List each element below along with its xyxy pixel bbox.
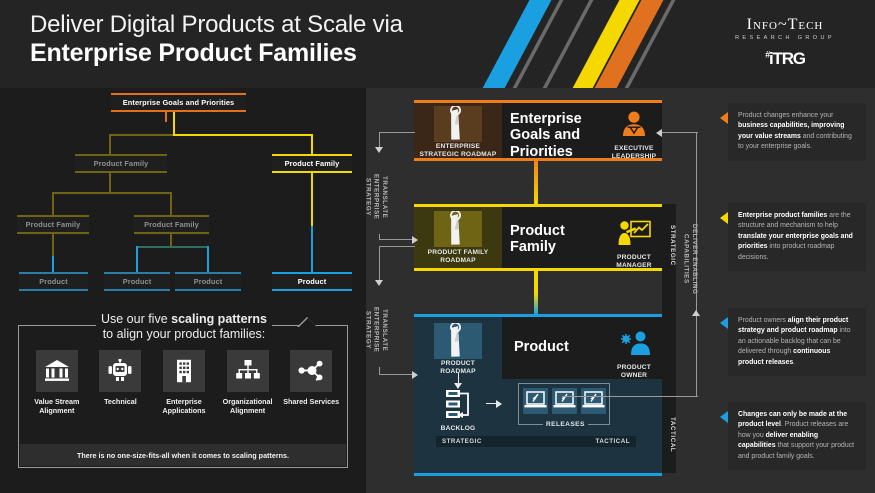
- tree-node-root-label: Enterprise Goals and Priorities: [123, 98, 235, 107]
- translate2-bottom-line: [379, 374, 415, 375]
- executive-leadership-icon: [619, 111, 649, 138]
- translate2-arrowhead: [375, 280, 383, 286]
- tree-node-product-3[interactable]: Product: [175, 274, 241, 289]
- deliver-top-line: [662, 132, 698, 133]
- row1-title: Enterprise Goals and Priorities: [510, 111, 582, 160]
- page-title-line2: Enterprise Product Families: [30, 39, 550, 67]
- product-family-roadmap-icon: [434, 211, 482, 247]
- callout-1-tip: [720, 112, 728, 124]
- translate2-top-line: [379, 246, 415, 247]
- callout-2: Enterprise product families are the stru…: [728, 203, 866, 271]
- enterprise-strategic-roadmap-icon: [434, 106, 482, 142]
- backlog-block[interactable]: BACKLOG: [436, 389, 480, 439]
- logo-itrg-text: iTRG: [769, 49, 805, 68]
- tree-node-product-2-label: Product: [123, 277, 152, 286]
- roadmap-to-backlog-arrowhead: [454, 383, 462, 389]
- tree-node-family-l1-right-label: Product Family: [285, 159, 340, 168]
- pattern-organizational-alignment[interactable]: Organizational Alignment: [218, 350, 278, 415]
- rocket-laptop-icon: [581, 388, 606, 414]
- product-family-tree: Enterprise Goals and Priorities Product …: [0, 88, 366, 303]
- backlog-label: BACKLOG: [436, 425, 480, 433]
- product-roadmap-icon: [434, 323, 482, 359]
- deliver-label: DELIVER ENABLING CAPABILITIES: [678, 216, 698, 302]
- callout-1-text: Product changes enhance your business ca…: [738, 111, 857, 153]
- row2-title: Product Family: [510, 223, 565, 256]
- callout-2-tip: [720, 212, 728, 224]
- tree-line-root-left: [109, 134, 175, 136]
- executive-leadership-persona: EXECUTIVE LEADERSHIP: [606, 111, 662, 161]
- spectrum-right-label: TACTICAL: [596, 438, 630, 445]
- translate2-label: TRANSLATE ENTERPRISE STRATEGY: [372, 293, 388, 367]
- callout-4: Changes can only be made at the product …: [728, 402, 866, 470]
- scaling-patterns-title-line1: Use our five scaling patterns: [96, 312, 272, 326]
- tree-node-family-l1-left-label: Product Family: [94, 159, 149, 168]
- product-owner-icon: [617, 330, 651, 357]
- scaling-patterns-card: Use our five scaling patterns to align y…: [18, 325, 348, 468]
- tree-node-family-l1-right[interactable]: Product Family: [272, 156, 352, 171]
- rail-strategic-label: STRATEGIC: [662, 210, 676, 280]
- translate1-label: TRANSLATE ENTERPRISE STRATEGY: [372, 160, 388, 234]
- tree-node-family-l2-left[interactable]: Product Family: [17, 217, 89, 232]
- tree-node-product-highlight[interactable]: Product: [272, 274, 352, 289]
- tree-line-pf-right-down-b: [311, 226, 313, 274]
- strategic-tactical-spectrum: STRATEGIC TACTICAL: [436, 436, 636, 447]
- spectrum-left-label: STRATEGIC: [442, 438, 482, 445]
- tree-line-l1l-down: [109, 171, 111, 193]
- tree-node-product-highlight-label: Product: [298, 277, 327, 286]
- translate1-to-row2-arrowhead: [412, 236, 418, 244]
- translate1-top-line: [379, 132, 415, 133]
- callout-1: Product changes enhance your business ca…: [728, 103, 866, 161]
- row3-title: Product: [514, 339, 569, 355]
- row2-roadmap-label: PRODUCT FAMILY ROADMAP: [414, 249, 502, 265]
- scaling-patterns-list: Value Stream Alignment Technical: [19, 350, 349, 415]
- org-chart-icon: [227, 350, 269, 392]
- tree-line-l2m-down: [170, 192, 172, 217]
- tree-line-p1-lower: [52, 256, 54, 274]
- row1-persona-label: EXECUTIVE LEADERSHIP: [606, 145, 662, 161]
- row-product[interactable]: PRODUCT ROADMAP Product PRODUCT OWNER: [414, 317, 662, 473]
- tree-line-l2-span: [52, 192, 172, 194]
- translate2-to-row3-arrowhead: [412, 371, 418, 379]
- logo-tagline: RESEARCH GROUP: [715, 35, 855, 41]
- pattern-value-stream-alignment[interactable]: Value Stream Alignment: [27, 350, 87, 415]
- callout-2-text: Enterprise product families are the stru…: [738, 211, 857, 263]
- scaling-patterns-footer: There is no one-size-fits-all when it co…: [20, 444, 346, 466]
- pattern-label: Shared Services: [281, 397, 341, 406]
- scaling-patterns-title: Use our five scaling patterns to align y…: [19, 310, 349, 341]
- tree-node-family-l2-mid[interactable]: Product Family: [134, 217, 209, 232]
- tree-node-family-l2-mid-label: Product Family: [144, 220, 199, 229]
- network-nodes-icon: [290, 350, 332, 392]
- deliver-to-row1-arrowhead: [656, 129, 662, 137]
- page-title: Deliver Digital Products at Scale via En…: [30, 12, 550, 67]
- backlog-icon: [438, 389, 478, 423]
- tree-line-l1-left-down: [109, 134, 111, 156]
- pattern-shared-services[interactable]: Shared Services: [281, 350, 341, 415]
- page-title-line1: Deliver Digital Products at Scale via: [30, 12, 550, 39]
- row3-bottom-rule: [414, 473, 662, 476]
- row2-persona-label: PRODUCT MANAGER: [606, 254, 662, 270]
- product-manager-icon: [617, 220, 651, 247]
- tree-line-root-down: [173, 110, 175, 136]
- backlog-to-releases-line: [486, 403, 498, 404]
- infographic-root: Deliver Digital Products at Scale via En…: [0, 0, 875, 493]
- tree-node-product-2[interactable]: Product: [104, 274, 170, 289]
- translate1-bottom-line: [379, 239, 415, 240]
- tree-node-family-l1-left[interactable]: Product Family: [75, 156, 167, 171]
- translate1-arrowhead: [375, 147, 383, 153]
- logo-itrg: #iTRG: [715, 49, 855, 69]
- rocket-laptop-icon: [552, 388, 577, 414]
- callout-3-text: Product owners align their product strat…: [738, 316, 857, 368]
- scaling-title-pre: Use our five: [101, 312, 171, 326]
- scaling-title-bold: scaling patterns: [171, 312, 267, 326]
- page-header: Deliver Digital Products at Scale via En…: [0, 0, 875, 88]
- translate2-down-line: [379, 246, 380, 282]
- releases-label: RELEASES: [543, 421, 588, 428]
- logo-wordmark: Info~Tech: [715, 16, 855, 34]
- strategic-tactical-rail: STRATEGIC TACTICAL: [662, 204, 676, 473]
- release-3[interactable]: [581, 388, 606, 414]
- brand-logo: Info~Tech RESEARCH GROUP #iTRG: [715, 16, 855, 69]
- spine-row2-to-row3: [534, 268, 538, 314]
- deliver-bottom-line: [562, 396, 698, 397]
- row3-persona-label: PRODUCT OWNER: [606, 364, 662, 380]
- pattern-label: Technical: [90, 397, 150, 406]
- tree-line-l1-right-down: [311, 134, 313, 156]
- product-owner-persona: PRODUCT OWNER: [606, 330, 662, 380]
- releases-group[interactable]: RELEASES: [518, 383, 610, 425]
- pattern-technical[interactable]: Technical: [90, 350, 150, 415]
- building-icon: [163, 350, 205, 392]
- tree-node-product-1[interactable]: Product: [19, 274, 88, 289]
- scaling-patterns-title-line2: to align your product families:: [19, 327, 349, 341]
- rocket-laptop-icon: [523, 388, 548, 414]
- row-enterprise-goals[interactable]: ENTERPRISE STRATEGIC ROADMAP Enterprise …: [414, 103, 662, 158]
- callout-4-tip: [720, 411, 728, 423]
- deliver-arrowhead-up: [692, 310, 700, 316]
- spine-row1-to-row2: [534, 158, 538, 204]
- release-1[interactable]: [523, 388, 548, 414]
- row-product-family[interactable]: PRODUCT FAMILY ROADMAP Product Family PR…: [414, 207, 662, 268]
- rail-tactical-label: TACTICAL: [662, 405, 676, 465]
- tree-node-family-l2-left-label: Product Family: [26, 220, 81, 229]
- tree-line-p2-down: [136, 246, 138, 274]
- release-2[interactable]: [552, 388, 577, 414]
- tree-line-p3-down: [207, 246, 209, 274]
- pattern-label: Enterprise Applications: [154, 397, 214, 415]
- callout-4-text: Changes can only be made at the product …: [738, 410, 857, 462]
- left-panel: Enterprise Goals and Priorities Product …: [0, 88, 366, 493]
- pattern-label: Value Stream Alignment: [27, 397, 87, 415]
- bank-icon: [36, 350, 78, 392]
- tree-line-pf-right-down-a: [311, 171, 313, 231]
- tree-node-root[interactable]: Enterprise Goals and Priorities: [111, 95, 246, 110]
- callout-3: Product owners align their product strat…: [728, 308, 866, 376]
- tree-line-p23-span: [136, 246, 208, 248]
- tree-line-root-right: [173, 134, 313, 136]
- row1-roadmap-label: ENTERPRISE STRATEGIC ROADMAP: [414, 143, 502, 159]
- tree-node-product-1-label: Product: [39, 277, 68, 286]
- tree-node-product-3-label: Product: [194, 277, 223, 286]
- pattern-enterprise-applications[interactable]: Enterprise Applications: [154, 350, 214, 415]
- tree-line-l2l-down: [52, 192, 54, 217]
- product-manager-persona: PRODUCT MANAGER: [606, 220, 662, 270]
- pattern-label: Organizational Alignment: [218, 397, 278, 415]
- callout-3-tip: [720, 317, 728, 329]
- robot-icon: [99, 350, 141, 392]
